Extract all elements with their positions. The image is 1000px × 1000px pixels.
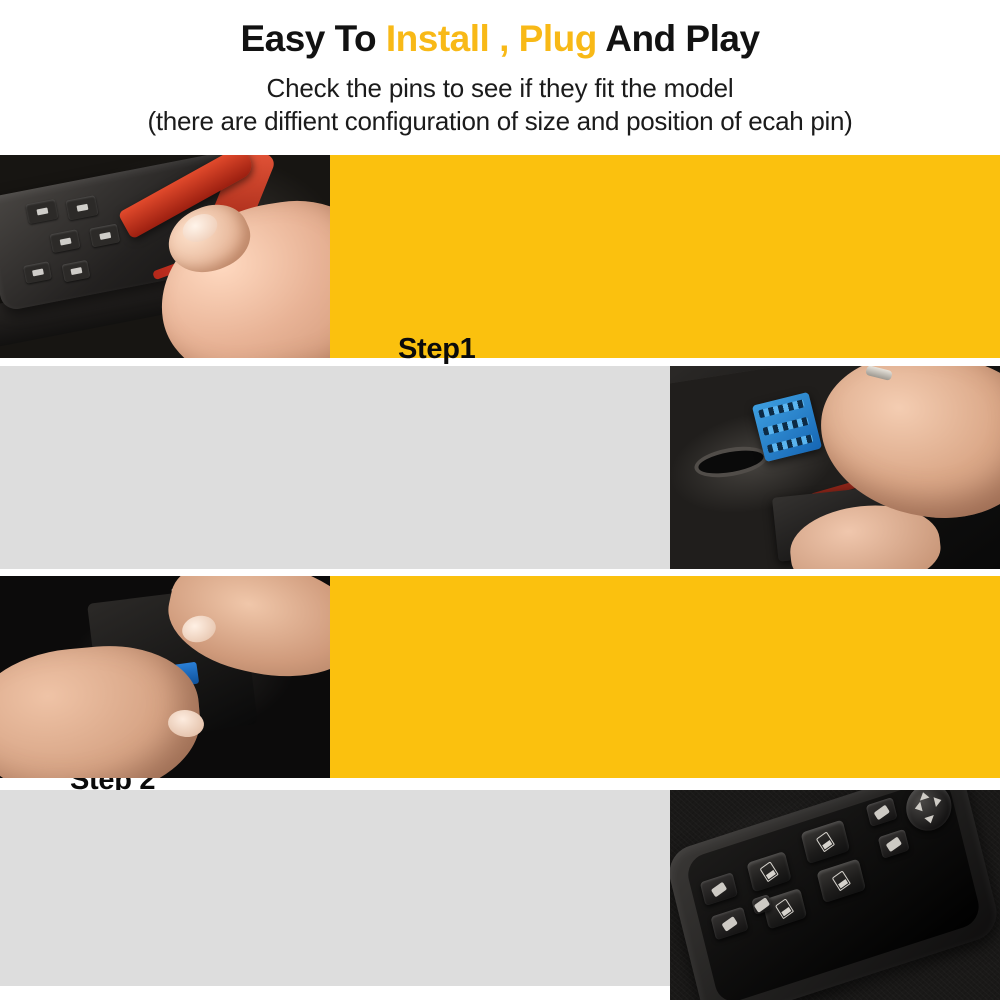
step-1-title: Step1	[398, 333, 475, 366]
mirror-adjust-joystick-icon	[901, 790, 956, 837]
mirror-select-left-icon	[866, 797, 898, 827]
window-button-icon	[65, 195, 98, 220]
mirror-fold-button-icon	[700, 872, 738, 906]
header: Easy To Install , Plug And Play Check th…	[0, 0, 1000, 152]
page-title: Easy To Install , Plug And Play	[0, 18, 1000, 60]
subtitle-line-1: Check the pins to see if they fit the mo…	[0, 73, 1000, 104]
step-2-photo	[670, 366, 1000, 569]
lock-button-icon	[23, 261, 52, 284]
step-row-4: Step 4 Install the new window switch and…	[0, 790, 1000, 986]
title-text-part1: Easy To	[240, 18, 385, 59]
step-1-text-panel	[330, 155, 1000, 358]
step-row-3: Step 3 After taking the switch out,disco…	[0, 576, 1000, 778]
window-button-icon	[49, 229, 80, 253]
step-2-text-panel	[0, 366, 670, 569]
window-button-icon	[25, 199, 58, 224]
window-button-icon	[89, 224, 120, 248]
step-4-photo	[670, 790, 1000, 1000]
step-row-1: Step1 Begin by removing the old switch t…	[0, 155, 1000, 358]
title-text-highlight: Install , Plug	[386, 18, 597, 59]
lock-button-icon	[61, 260, 90, 283]
step-1-photo	[0, 155, 330, 358]
mirror-select-right-icon	[878, 829, 910, 859]
step-3-text-panel	[330, 576, 1000, 778]
window-button-front-left-icon	[801, 819, 851, 864]
step-4-text-panel	[0, 790, 670, 986]
title-text-part2: And Play	[597, 18, 760, 59]
infographic-page: Easy To Install , Plug And Play Check th…	[0, 0, 1000, 1000]
step-row-2: Step 2 As soon as you have taken it out …	[0, 366, 1000, 569]
door-lock-button-icon	[710, 907, 748, 941]
window-button-rear-left-icon	[746, 851, 791, 893]
step-3-photo	[0, 576, 330, 778]
window-button-front-right-icon	[816, 858, 866, 903]
subtitle-line-2: (there are diffient configuration of siz…	[0, 106, 1000, 137]
